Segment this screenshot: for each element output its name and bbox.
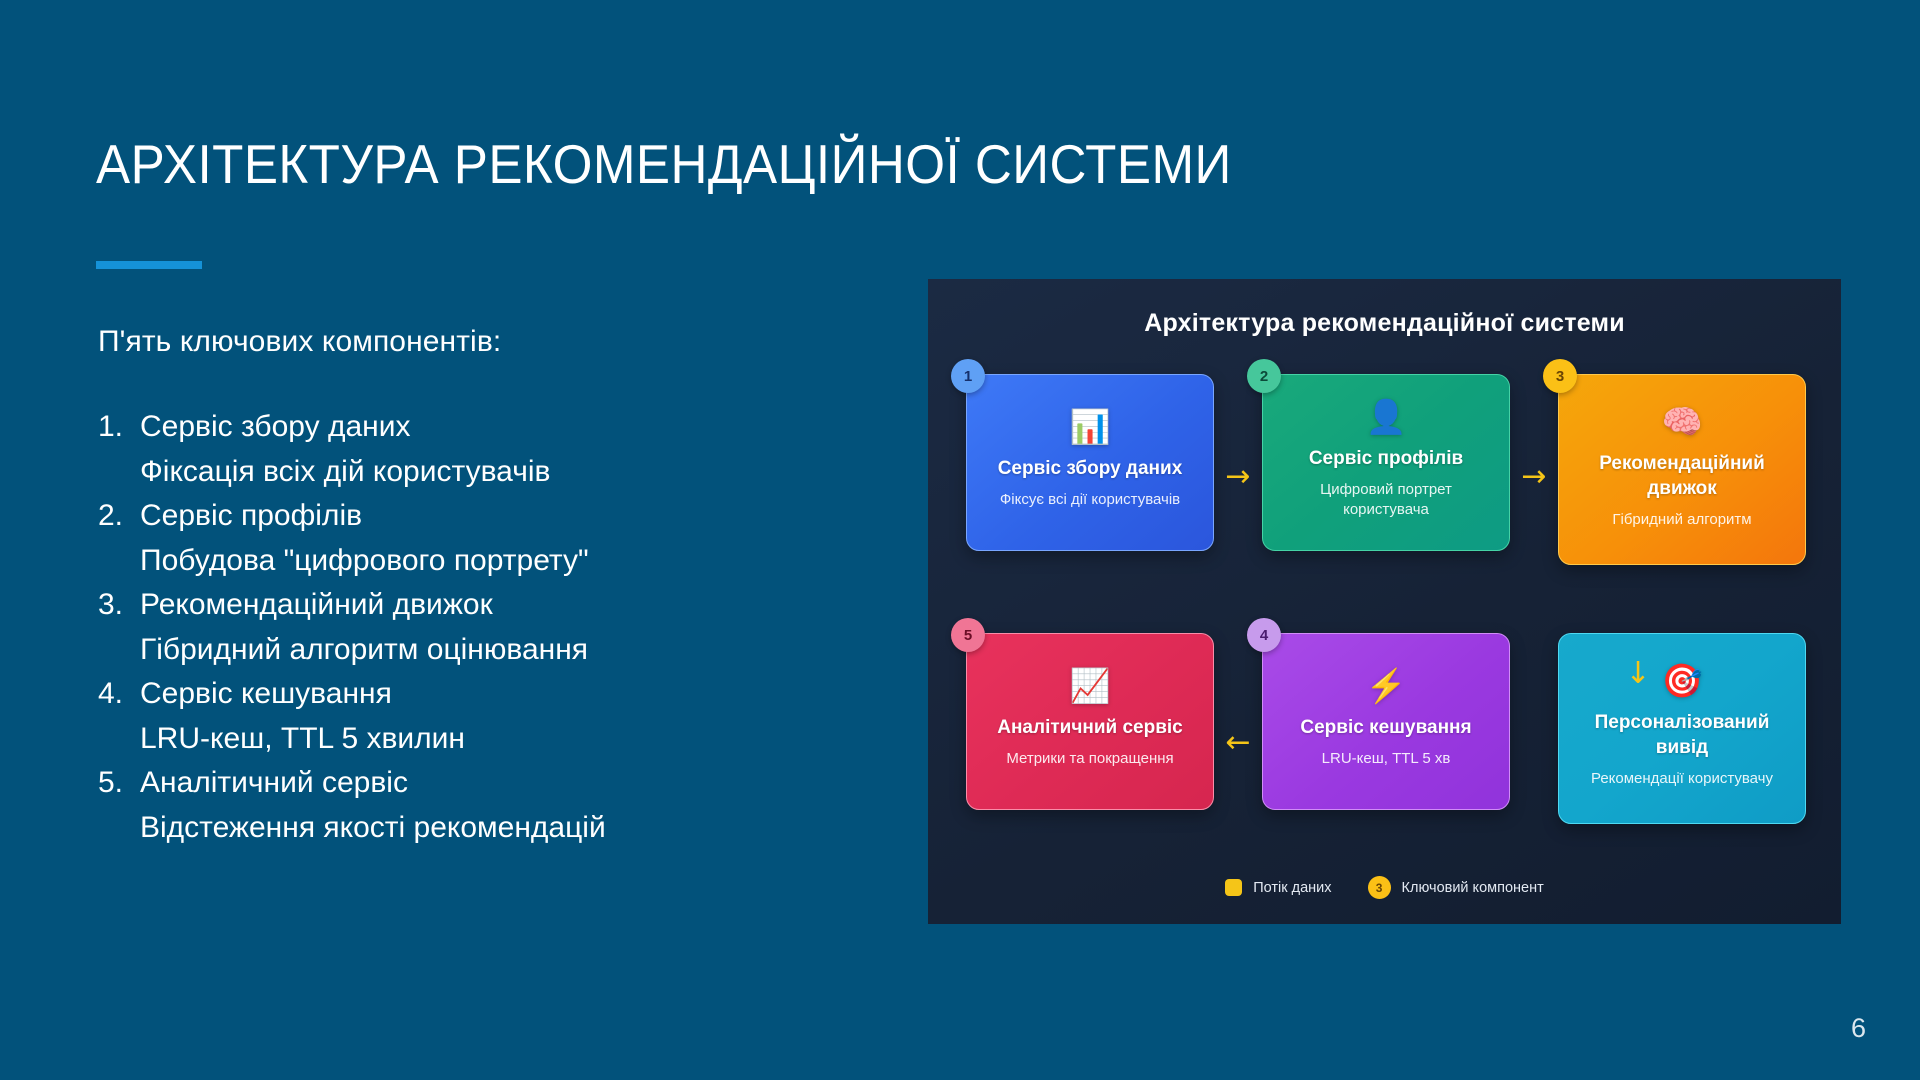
card-subtitle: Фіксує всі дії користувачів — [1000, 490, 1180, 511]
diagram-cell: 5 📈 Аналітичний сервіс Метрики та покращ… — [966, 633, 1214, 824]
card-badge: 1 — [951, 359, 985, 393]
list-item-number: 1. — [98, 405, 140, 450]
card-personalized-output[interactable]: 🎯 Персоналізований вивід Рекомендації ко… — [1558, 633, 1806, 824]
card-profile-service[interactable]: 2 👤 Сервіс профілів Цифровий портрет кор… — [1262, 374, 1510, 551]
diagram-title: Архітектура рекомендаційної системи — [928, 309, 1841, 338]
list-item: 4. Сервіс кешування LRU-кеш, TTL 5 хвили… — [98, 672, 858, 761]
legend-label: Ключовий компонент — [1402, 880, 1544, 896]
bar-chart-icon: 📊 — [1069, 410, 1110, 443]
card-title: Рекомендаційний движок — [1573, 451, 1791, 502]
card-title: Аналітичний сервіс — [997, 715, 1183, 740]
diagram-cell: 3 🧠 Рекомендаційний движок Гібридний алг… — [1558, 374, 1806, 565]
list-item-title: Рекомендаційний движок — [140, 583, 858, 628]
card-subtitle: Метрики та покращення — [1006, 749, 1173, 770]
list-item-subtitle: Гібридний алгоритм оцінювання — [140, 628, 858, 673]
list-item-number: 2. — [98, 494, 140, 539]
list-item-subtitle: Побудова "цифрового портрету" — [140, 539, 858, 584]
diagram-cell: 🎯 Персоналізований вивід Рекомендації ко… — [1558, 633, 1806, 824]
list-item-title: Сервіс профілів — [140, 494, 858, 539]
card-subtitle: Гібридний алгоритм — [1612, 510, 1751, 531]
arrow-down-icon: ↓ — [1618, 659, 1658, 689]
list-item-title: Сервіс кешування — [140, 672, 858, 717]
arrow-right-icon: → — [1510, 462, 1558, 492]
card-title: Персоналізований вивід — [1573, 710, 1791, 761]
card-analytics-service[interactable]: 5 📈 Аналітичний сервіс Метрики та покращ… — [966, 633, 1214, 810]
card-title: Сервіс профілів — [1309, 446, 1463, 471]
legend-color-swatch — [1225, 879, 1242, 896]
list-item: 1. Сервіс збору даних Фіксація всіх дій … — [98, 405, 858, 494]
list-item: 3. Рекомендаційний движок Гібридний алго… — [98, 583, 858, 672]
list-item-subtitle: Фіксація всіх дій користувачів — [140, 450, 858, 495]
card-data-collection[interactable]: 1 📊 Сервіс збору даних Фіксує всі дії ко… — [966, 374, 1214, 551]
list-item-subtitle: Відстеження якості рекомендацій — [140, 806, 858, 851]
list-item: 5. Аналітичний сервіс Відстеження якості… — [98, 761, 858, 850]
chart-increasing-icon: 📈 — [1069, 669, 1110, 702]
arrow-right-icon: → — [1214, 462, 1262, 492]
diagram-gap: ← — [1214, 633, 1262, 824]
title-accent-bar — [96, 261, 202, 269]
diagram-cell: 2 👤 Сервіс профілів Цифровий портрет кор… — [1262, 374, 1510, 551]
legend-label: Потік даних — [1253, 880, 1331, 896]
card-badge: 2 — [1247, 359, 1281, 393]
card-badge: 3 — [1543, 359, 1577, 393]
components-list: 1. Сервіс збору даних Фіксація всіх дій … — [98, 405, 858, 850]
list-item-subtitle: LRU-кеш, TTL 5 хвилин — [140, 717, 858, 762]
user-bust-icon: 👤 — [1365, 400, 1406, 433]
legend-number-circle: 3 — [1368, 876, 1391, 899]
target-dart-icon: 🎯 — [1661, 664, 1702, 697]
list-item-title: Сервіс збору даних — [140, 405, 858, 450]
card-subtitle: Цифровий портрет користувача — [1277, 480, 1495, 521]
lead-text: П'ять ключових компонентів: — [98, 325, 501, 359]
card-badge: 5 — [951, 618, 985, 652]
diagram-legend: Потік даних 3 Ключовий компонент — [928, 876, 1841, 899]
list-item-number: 3. — [98, 583, 140, 628]
diagram-row-bottom: 5 📈 Аналітичний сервіс Метрики та покращ… — [966, 633, 1806, 824]
legend-item-data-flow: Потік даних — [1225, 879, 1331, 896]
diagram-row-top: 1 📊 Сервіс збору даних Фіксує всі дії ко… — [966, 374, 1806, 565]
diagram-gap — [1510, 633, 1558, 824]
card-badge: 4 — [1247, 618, 1281, 652]
page-number: 6 — [1851, 1013, 1866, 1044]
page-title: АРХІТЕКТУРА РЕКОМЕНДАЦІЙНОЇ СИСТЕМИ — [96, 136, 1417, 194]
card-recommendation-engine[interactable]: 3 🧠 Рекомендаційний движок Гібридний алг… — [1558, 374, 1806, 565]
legend-item-key-component: 3 Ключовий компонент — [1368, 876, 1544, 899]
card-title: Сервіс кешування — [1300, 715, 1471, 740]
diagram-cell: 4 ⚡ Сервіс кешування LRU-кеш, TTL 5 хв — [1262, 633, 1510, 824]
architecture-diagram-panel: Архітектура рекомендаційної системи 1 📊 … — [928, 279, 1841, 924]
diagram-cell: 1 📊 Сервіс збору даних Фіксує всі дії ко… — [966, 374, 1214, 551]
brain-icon: 🧠 — [1661, 405, 1702, 438]
card-subtitle: LRU-кеш, TTL 5 хв — [1322, 749, 1451, 770]
lightning-bolt-icon: ⚡ — [1365, 669, 1406, 702]
card-title: Сервіс збору даних — [998, 456, 1183, 481]
list-item: 2. Сервіс профілів Побудова "цифрового п… — [98, 494, 858, 583]
list-item-number: 5. — [98, 761, 140, 806]
list-item-title: Аналітичний сервіс — [140, 761, 858, 806]
diagram-grid: 1 📊 Сервіс збору даних Фіксує всі дії ко… — [966, 374, 1806, 824]
arrow-left-icon: ← — [1214, 728, 1262, 758]
card-subtitle: Рекомендації користувачу — [1591, 769, 1773, 790]
list-item-number: 4. — [98, 672, 140, 717]
card-cache-service[interactable]: 4 ⚡ Сервіс кешування LRU-кеш, TTL 5 хв — [1262, 633, 1510, 810]
slide: АРХІТЕКТУРА РЕКОМЕНДАЦІЙНОЇ СИСТЕМИ П'ят… — [0, 0, 1920, 1080]
